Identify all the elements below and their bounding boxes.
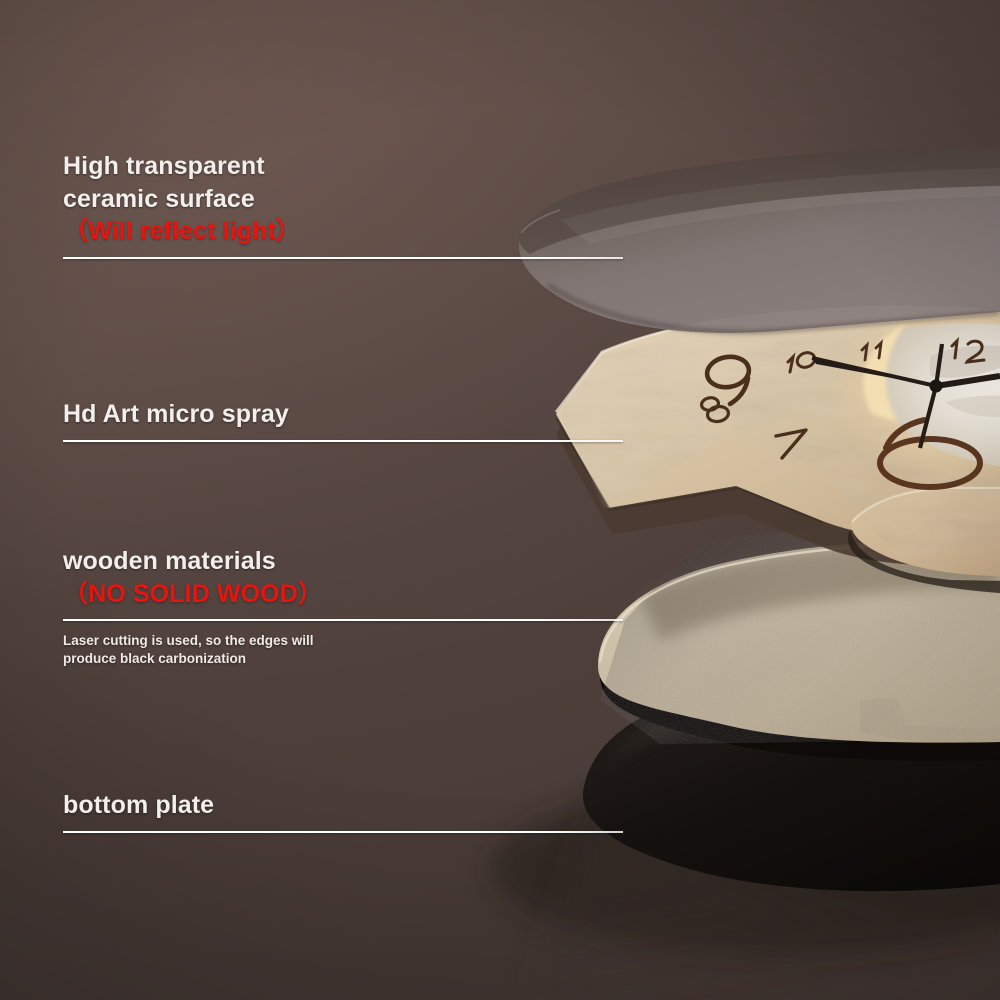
callout-wooden-materials: wooden materials （NO SOLID WOOD） Laser c… <box>63 545 623 668</box>
callout-wood-leader-line <box>63 619 623 621</box>
callout-ceramic-alert: （Will reflect light） <box>63 215 623 248</box>
callout-spray-leader-line <box>63 440 623 442</box>
callout-wood-alert: （NO SOLID WOOD） <box>63 578 623 611</box>
callout-spray-title: Hd Art micro spray <box>63 398 623 431</box>
callout-ceramic-leader-line <box>63 257 623 259</box>
callout-ceramic-surface: High transparent ceramic surface （Will r… <box>63 150 623 259</box>
callout-bottom-title: bottom plate <box>63 789 623 822</box>
callout-wood-note: Laser cutting is used, so the edges will… <box>63 632 623 668</box>
callout-bottom-leader-line <box>63 831 623 833</box>
product-infographic: High transparent ceramic surface （Will r… <box>0 0 1000 1000</box>
callout-bottom-plate: bottom plate <box>63 789 623 833</box>
callout-wood-title: wooden materials <box>63 545 623 578</box>
callout-ceramic-title: High transparent ceramic surface <box>63 150 623 215</box>
callout-micro-spray: Hd Art micro spray <box>63 398 623 442</box>
hands-center-hub <box>930 380 943 393</box>
